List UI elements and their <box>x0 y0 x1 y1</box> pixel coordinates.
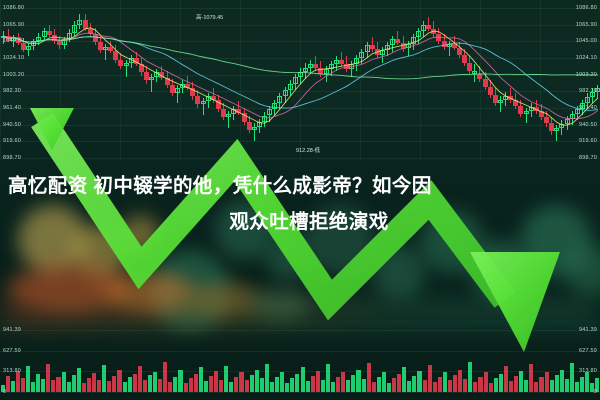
image-canvas: 1086.801065.901045.001024.101003.20982.3… <box>0 0 600 400</box>
headline-text: 高忆配资 初中辍学的他，凭什么成影帝？如今因 观众吐槽拒绝演戏 <box>8 168 592 240</box>
headline-line-1: 高忆配资 初中辍学的他，凭什么成影帝？如今因 <box>8 168 592 204</box>
headline-line-2: 观众吐槽拒绝演戏 <box>8 204 592 240</box>
